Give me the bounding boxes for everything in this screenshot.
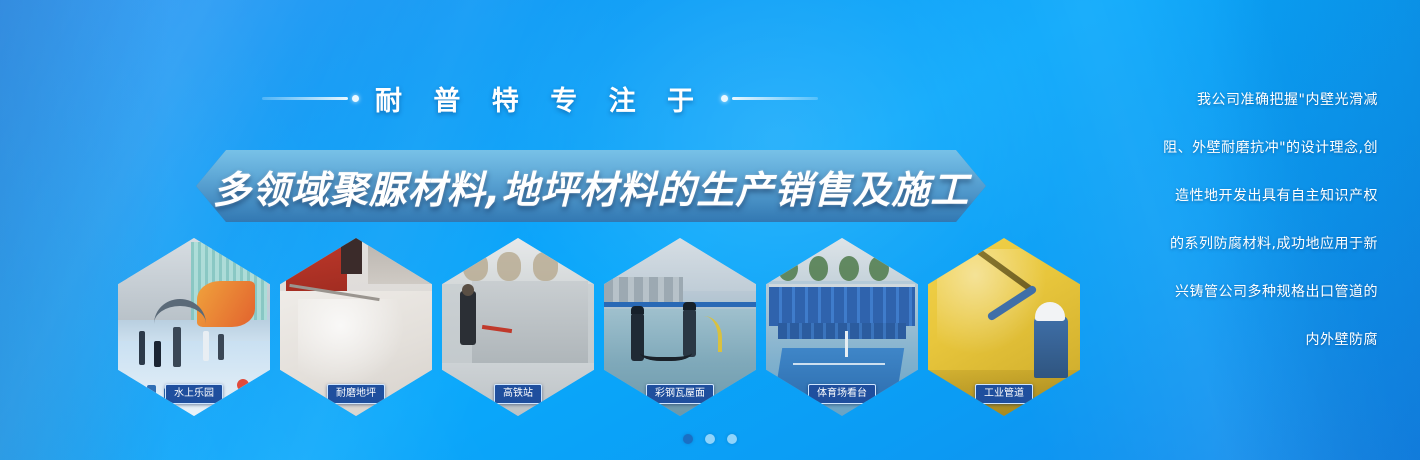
thumbnail-label: 体育场看台: [808, 384, 876, 404]
line-icon: [262, 97, 348, 100]
eyebrow-text: 耐 普 特 专 注 于: [375, 79, 705, 118]
thumbnail-water-park[interactable]: 水上乐园: [118, 238, 270, 416]
carousel-pagination: [0, 434, 1420, 444]
thumbnail-industrial-pipeline[interactable]: 工业管道: [928, 238, 1080, 416]
thumbnail-label: 彩钢瓦屋面: [646, 384, 714, 404]
eyebrow-headline: 耐 普 特 专 注 于: [0, 78, 1080, 118]
carousel-dot-2[interactable]: [705, 434, 715, 444]
thumbnail-label: 水上乐园: [165, 384, 223, 404]
description-line: 我公司准确把握"内壁光滑减: [1160, 76, 1378, 124]
description-line: 内外壁防腐: [1160, 316, 1378, 364]
carousel-dot-3[interactable]: [727, 434, 737, 444]
thumbnail-color-steel-tile-roof[interactable]: 彩钢瓦屋面: [604, 238, 756, 416]
left-line-decoration: [262, 95, 359, 102]
promo-banner: 耐 普 特 专 注 于 多领域聚脲材料,地坪材料的生产销售及施工 我公司准确把握…: [0, 0, 1420, 460]
company-description: 我公司准确把握"内壁光滑减 阻、外壁耐磨抗冲"的设计理念,创 造性地开发出具有自…: [1160, 76, 1378, 364]
thumbnail-label: 工业管道: [975, 384, 1033, 404]
dot-icon: [352, 95, 359, 102]
thumbnail-label: 高铁站: [494, 384, 542, 404]
carousel-dot-1[interactable]: [683, 434, 693, 444]
description-line: 的系列防腐材料,成功地应用于新: [1160, 220, 1378, 268]
thumbnail-stadium-grandstand[interactable]: 体育场看台: [766, 238, 918, 416]
line-icon: [732, 97, 818, 100]
title-ribbon: 多领域聚脲材料,地坪材料的生产销售及施工: [196, 150, 986, 222]
description-line: 造性地开发出具有自主知识产权: [1160, 172, 1378, 220]
dot-icon: [721, 95, 728, 102]
page-title: 多领域聚脲材料,地坪材料的生产销售及施工: [213, 159, 969, 214]
right-line-decoration: [721, 95, 818, 102]
project-thumbnail-row: 水上乐园 耐磨地坪 高铁站 彩钢瓦: [118, 238, 1118, 416]
description-line: 阻、外壁耐磨抗冲"的设计理念,创: [1160, 124, 1378, 172]
thumbnail-high-speed-rail-station[interactable]: 高铁站: [442, 238, 594, 416]
thumbnail-label: 耐磨地坪: [327, 384, 385, 404]
description-line: 兴铸管公司多种规格出口管道的: [1160, 268, 1378, 316]
thumbnail-wear-resistant-floor[interactable]: 耐磨地坪: [280, 238, 432, 416]
